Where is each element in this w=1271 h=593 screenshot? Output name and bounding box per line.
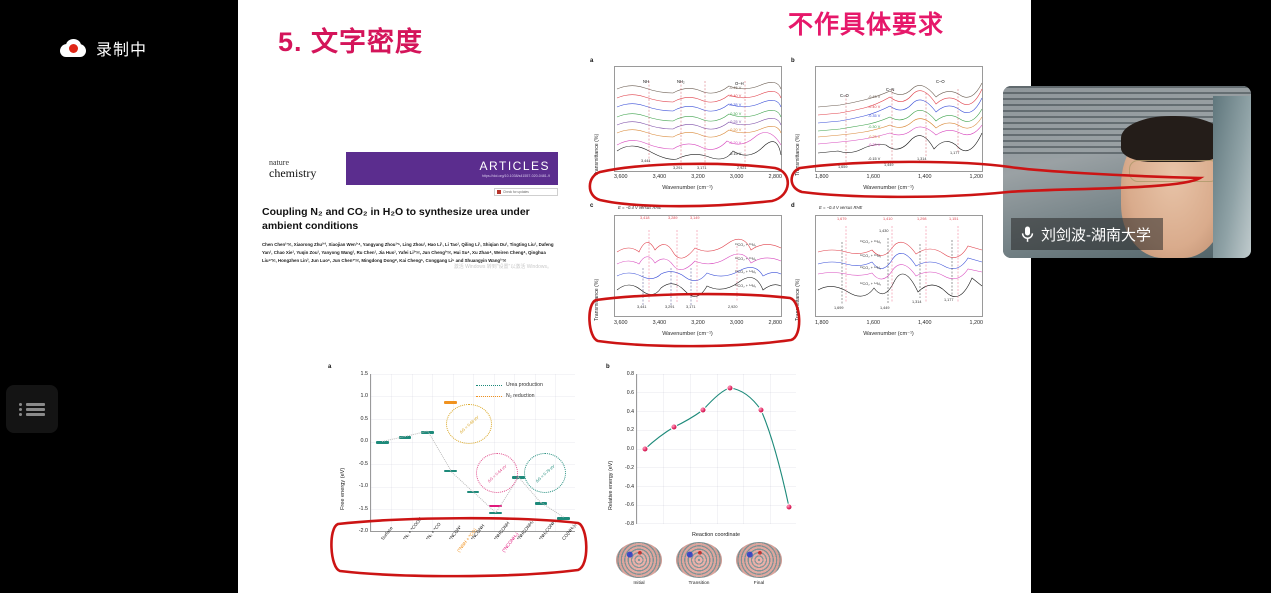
left-rail	[0, 0, 60, 593]
panel-d-spectra	[816, 216, 984, 318]
list-icon-row	[19, 403, 45, 406]
panel-c-peak: 3,291	[665, 305, 675, 309]
journal-banner: nature chemistry ARTICLES https://doi.or…	[262, 152, 558, 185]
panel-d-peak: 1,430	[879, 229, 889, 233]
rc-curve	[637, 374, 797, 524]
journal-name-line2: chemistry	[269, 167, 345, 179]
fe-connector	[427, 431, 451, 470]
list-icon-bar	[26, 408, 45, 411]
free-energy-panel: a Free energy (eV) 1.51.00.50.0-0.5-1.0-…	[328, 360, 588, 590]
free-energy-ylabel: Free energy (eV)	[340, 468, 346, 510]
panel-d-series-label: ¹³CO₂ + ¹⁵N₂	[860, 240, 881, 244]
panel-b-peak: 1,449	[884, 163, 894, 167]
panel-label-rc: b	[606, 364, 610, 370]
panel-a-group-nh2: NH₂	[677, 79, 685, 84]
panel-b-peak: 1,177	[950, 151, 960, 155]
rc-ytick: 0.0	[627, 446, 634, 452]
fe-bar-alt	[444, 401, 457, 404]
cloud-record-icon	[60, 39, 86, 57]
slide-note: 不作具体要求	[788, 5, 944, 41]
panel-d-peak: 1,449	[880, 306, 890, 310]
xtick: 3,000	[730, 174, 744, 180]
xtick: 2,800	[769, 174, 783, 180]
panel-c-peak-red: 3,289	[668, 216, 678, 220]
molecular-structure-initial	[616, 542, 662, 578]
rc-ytick: 0.8	[627, 371, 634, 377]
rc-ytick: 0.2	[627, 427, 634, 433]
xtick: 1,400	[918, 320, 932, 326]
panel-a-series-label: -0.15 V	[729, 152, 741, 156]
fe-ytick: 0.0	[361, 438, 369, 444]
fe-ytick: -1.5	[359, 506, 368, 512]
participant-name: 刘剑波-湖南大学	[1041, 224, 1151, 245]
recording-label: 录制中	[96, 36, 147, 60]
panel-a-series-label: -0.25 V	[729, 120, 741, 124]
rc-ytick: -0.2	[625, 465, 634, 471]
ftir-panel-c: c E = −0.4 V versus RHE Transmittance (%…	[590, 203, 785, 343]
ftir-panel-d: d E = −0.4 V versus RHE Transmittance (%…	[791, 203, 986, 343]
xtick: 1,200	[970, 320, 984, 326]
video-window-strip	[1213, 96, 1251, 258]
fe-ytick: 1.0	[361, 393, 369, 399]
xtick: 1,600	[867, 174, 881, 180]
panel-label-a: a	[590, 58, 593, 64]
slide-title: 5. 文字密度	[278, 20, 423, 59]
panel-d-peak-red: 1,410	[883, 217, 893, 221]
panel-b-group-co: C=O	[840, 93, 849, 98]
xtick: 1,600	[867, 320, 881, 326]
xtick: 1,800	[815, 174, 829, 180]
fe-xlabel-alt: (*NCONH₂)	[501, 531, 519, 553]
panel-d-peak-red: 1,679	[837, 217, 847, 221]
panel-d-peak-red: 1,151	[949, 217, 959, 221]
panel-a-peak: 3,441	[641, 159, 651, 163]
panel-b-plot-area: C=O C–N C–O -0.45 V -0.40 V -0.35 V -0.3…	[815, 66, 983, 172]
free-energy-annotation-3: ΔG = 0.79 eV	[524, 453, 566, 493]
list-icon-dot	[19, 403, 22, 406]
panel-b-ylabel: Transmittance (%)	[795, 134, 801, 176]
xtick: 3,200	[691, 320, 705, 326]
rc-ytick: -0.4	[625, 484, 634, 490]
panel-c-spectra	[615, 216, 783, 318]
paper-header-figure: nature chemistry ARTICLES https://doi.or…	[262, 152, 558, 264]
rc-ytick: 0.6	[627, 390, 634, 396]
panel-b-group-co2: C–O	[936, 79, 945, 84]
presentation-slide[interactable]: 5. 文字密度 不作具体要求 nature chemistry ARTICLES…	[238, 0, 1031, 593]
panel-d-peak: 1,177	[944, 298, 954, 302]
panel-b-group-cn: C–N	[886, 87, 894, 92]
participant-glasses	[1129, 160, 1219, 182]
rc-point	[642, 446, 649, 453]
panel-d-plot-area: 1,679 1,410 1,298 1,151 1,430 ¹³CO₂ + ¹⁵…	[815, 215, 983, 317]
fe-connector	[541, 502, 564, 518]
panel-b-series-label: -0.25 V	[868, 135, 880, 139]
rc-ytick: 0.4	[627, 409, 634, 415]
xtick: 3,000	[730, 320, 744, 326]
journal-logo: nature chemistry	[262, 152, 346, 185]
panel-c-plot-area: 3,418 3,289 3,149 ¹³CO₂ + ¹⁵N₂ ¹²CO₂ + ¹…	[614, 215, 782, 317]
list-icon-row	[19, 413, 45, 416]
panel-a-xticks: 3,600 3,400 3,200 3,000 2,800	[614, 174, 782, 180]
reaction-coordinate-ylabel: Relative energy (eV)	[608, 461, 614, 510]
list-icon-dot	[19, 413, 22, 416]
panel-b-series-label: -0.35 V	[868, 114, 880, 118]
list-icon-row	[19, 408, 45, 411]
rc-ytick: -0.6	[625, 502, 634, 508]
windows-activation-watermark: 激活 Windows 转到"设置"以激活 Windows。	[454, 264, 552, 271]
participant-hair	[1121, 116, 1225, 162]
rc-point	[758, 407, 765, 414]
panel-a-series-label: -0.20 V	[729, 128, 741, 132]
xtick: 3,600	[614, 174, 628, 180]
panel-b-series-label: -0.30 V	[868, 125, 880, 129]
xtick: 1,800	[815, 320, 829, 326]
xtick: 3,600	[614, 320, 628, 326]
panel-c-peak-red: 3,149	[690, 216, 700, 220]
article-type-bar: ARTICLES https://doi.org/10.1038/s41557-…	[346, 152, 558, 185]
panel-d-condition: E = −0.4 V versus RHE	[819, 205, 862, 210]
panel-c-series-label: ¹²CO₂ + ¹⁵N₂	[735, 257, 756, 261]
panel-a-series-label: -0.20 V	[729, 141, 741, 145]
fe-bar	[557, 517, 570, 520]
update-badge-label: Check for updates	[503, 190, 529, 194]
xtick: 2,800	[769, 320, 783, 326]
panel-c-xticks: 3,600 3,400 3,200 3,000 2,800	[614, 320, 782, 326]
panel-label-fe: a	[328, 364, 331, 370]
xtick: 1,200	[970, 174, 984, 180]
panel-label-d: d	[791, 203, 795, 209]
legend-swatch	[476, 396, 502, 397]
panel-d-xlabel: Wavenumber (cm⁻¹)	[791, 331, 986, 337]
structure-label-final: Final	[736, 581, 782, 586]
molecular-structure-transition	[676, 542, 722, 578]
panel-a-series-label: -0.45 V	[729, 86, 741, 90]
panel-b-peak: 1,659	[838, 165, 848, 169]
panel-a-peak: 3,171	[697, 166, 707, 170]
panel-a-ylabel: Transmittance (%)	[594, 134, 600, 176]
reaction-coordinate-panel: b Relative energy (eV) 0.80.60.40.20.0-0…	[588, 360, 818, 590]
legend-n2-reduction: N₂ reduction	[476, 393, 535, 399]
panel-c-series-label: ¹³CO₂ + ¹⁴N₂	[735, 270, 756, 274]
molecular-structure-final	[736, 542, 782, 578]
rail-list-button[interactable]	[6, 385, 58, 433]
ftir-panel-a: a Transmittance (%)	[590, 58, 785, 198]
panel-c-peak: 3,171	[686, 305, 696, 309]
fe-ytick: -0.5	[359, 461, 368, 467]
panel-a-series-label: -0.30 V	[729, 112, 741, 116]
fe-ytick: 1.5	[361, 371, 369, 377]
xtick: 3,400	[653, 320, 667, 326]
panel-a-peak: 3,291	[673, 166, 683, 170]
panel-label-b: b	[791, 58, 795, 64]
free-energy-annotation-1: ΔG = 0.66 eV	[446, 404, 492, 444]
panel-a-series-label: -0.40 V	[729, 94, 741, 98]
rc-point	[727, 385, 734, 392]
ftir-panel-b: b Transmittance (%)	[791, 58, 986, 198]
legend-urea-production: Urea production	[476, 382, 543, 388]
panel-c-peak-red: 3,418	[640, 216, 650, 220]
panel-d-peak-red: 1,298	[917, 217, 927, 221]
panel-d-series-label: ¹³CO₂ + ¹⁴N₂	[860, 266, 881, 270]
panel-d-peak: 1,314	[912, 300, 922, 304]
panel-d-series-label: ¹²CO₂ + ¹⁴N₂	[860, 282, 881, 286]
panel-d-series-label: ¹²CO₂ + ¹⁵N₂	[860, 254, 881, 258]
panel-b-xlabel: Wavenumber (cm⁻¹)	[791, 185, 986, 191]
article-section-label: ARTICLES	[480, 159, 550, 173]
xtick: 1,400	[918, 174, 932, 180]
panel-c-peak: 3,441	[637, 305, 647, 309]
panel-label-c: c	[590, 203, 593, 209]
video-tile[interactable]: 刘剑波-湖南大学	[1003, 86, 1251, 258]
rc-point	[671, 424, 678, 431]
panel-a-group-nh: NH	[643, 79, 649, 84]
panel-a-xlabel: Wavenumber (cm⁻¹)	[590, 185, 785, 191]
panel-c-peak: 2,920	[728, 305, 738, 309]
reaction-coordinate-xlabel: Reaction coordinate	[636, 532, 796, 538]
fe-ytick: 0.5	[361, 416, 369, 422]
fe-ytick: -2.0	[359, 528, 368, 534]
participant-name-bar: 刘剑波-湖南大学	[1011, 218, 1163, 250]
panel-b-series-label: -0.45 V	[868, 95, 880, 99]
legend-label: Urea production	[506, 382, 543, 388]
panel-b-spectra	[816, 67, 984, 173]
panel-a-spectra	[615, 67, 783, 173]
paper-title: Coupling N₂ and CO₂ in H₂O to synthesize…	[262, 205, 558, 233]
recording-indicator: 录制中	[60, 36, 147, 60]
panel-b-xticks: 1,800 1,600 1,400 1,200	[815, 174, 983, 180]
list-icon-bar	[26, 413, 45, 416]
xtick: 3,200	[691, 174, 705, 180]
panel-d-xticks: 1,800 1,600 1,400 1,200	[815, 320, 983, 326]
panel-d-peak: 1,699	[834, 306, 844, 310]
legend-swatch	[476, 385, 502, 386]
structure-label-transition: Transition	[676, 581, 722, 586]
update-badge-icon	[497, 190, 501, 194]
panel-b-series-label: -0.40 V	[868, 105, 880, 109]
panel-a-plot-area: NH NH₂ O–H -0.45 V -0.40 V -0.35 V -0.30…	[614, 66, 782, 172]
panel-d-ylabel: Transmittance (%)	[795, 279, 801, 321]
panel-c-condition: E = −0.4 V versus RHE	[618, 205, 661, 210]
rc-point	[700, 407, 707, 414]
fe-connector	[473, 491, 496, 513]
list-icon-bar	[26, 403, 45, 406]
rc-ytick: -0.8	[625, 521, 634, 527]
xtick: 3,400	[653, 174, 667, 180]
panel-b-peak: 1,314	[917, 157, 927, 161]
panel-c-series-label: ¹³CO₂ + ¹⁵N₂	[735, 243, 756, 247]
article-doi: https://doi.org/10.1038/s41557-020-0481-…	[482, 174, 550, 178]
panel-a-peak: 2,921	[737, 166, 747, 170]
panel-c-series-label: ¹²CO₂ + ¹⁴N₂	[735, 284, 756, 288]
structure-label-initial: Initial	[616, 581, 662, 586]
legend-label: N₂ reduction	[506, 393, 535, 399]
rc-point	[786, 504, 793, 511]
fe-ytick: -1.0	[359, 483, 368, 489]
panel-c-ylabel: Transmittance (%)	[594, 279, 600, 321]
reaction-coordinate-plot-area: 0.80.60.40.20.0-0.2-0.4-0.6-0.8	[636, 374, 796, 524]
paper-authors: Chen Chen¹'✉, Xiaorong Zhu²'³, Xiaojian …	[262, 241, 558, 264]
free-energy-annotation-2: ΔG = 0.64 eV	[476, 453, 518, 493]
microphone-icon	[1021, 226, 1034, 243]
fe-connector	[450, 470, 473, 492]
check-for-updates-badge: Check for updates	[494, 188, 558, 196]
panel-a-series-label: -0.35 V	[729, 103, 741, 107]
panel-c-xlabel: Wavenumber (cm⁻¹)	[590, 331, 785, 337]
list-icon-dot	[19, 408, 22, 411]
panel-b-series-label: -0.20 V	[868, 143, 880, 147]
panel-b-series-label: -0.15 V	[868, 157, 880, 161]
